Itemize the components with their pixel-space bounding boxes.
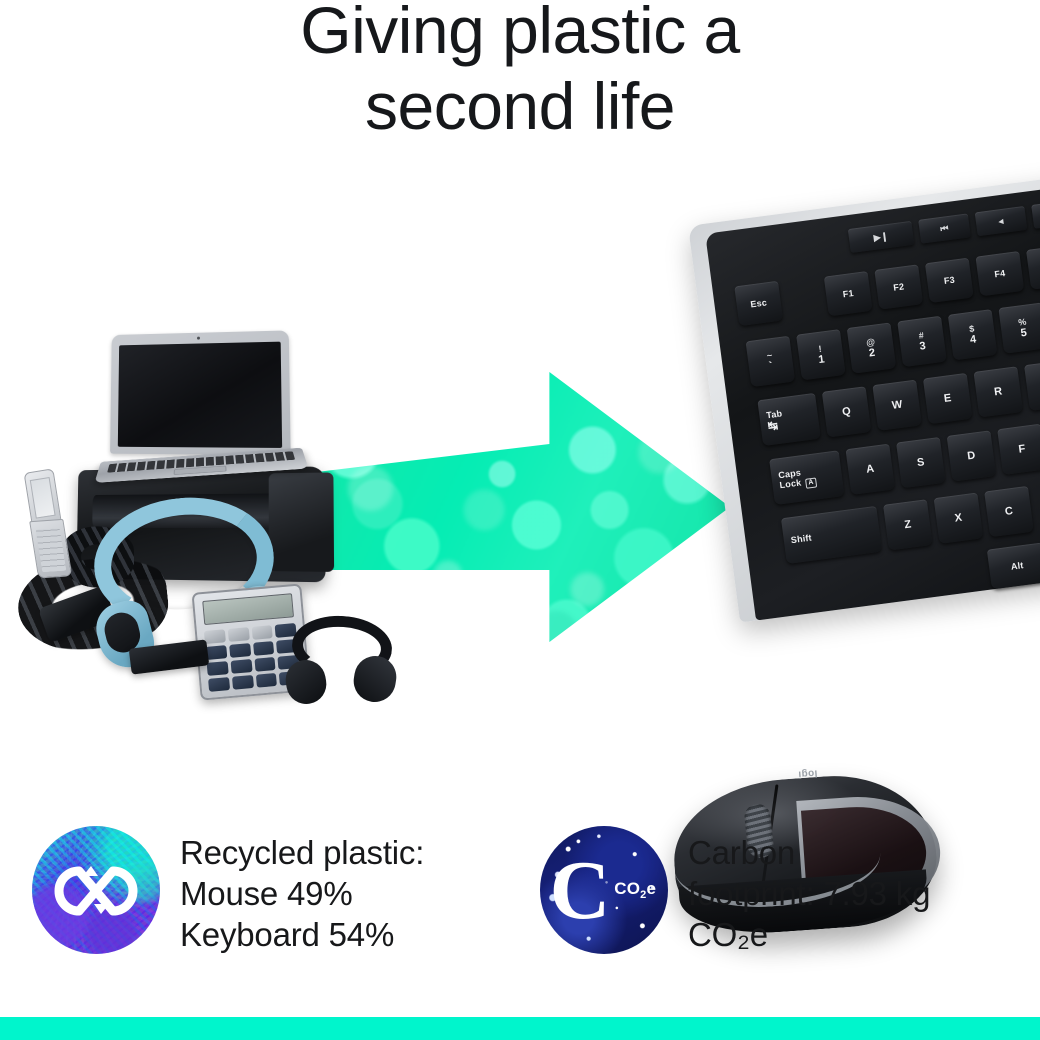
printer-side-block [269,472,334,572]
key-a[interactable]: A [846,444,896,495]
key-f1[interactable]: F1 [824,271,873,316]
flip-phone-screen [24,468,62,526]
carbon-line-2: footprint: 7.93 kg [688,873,930,914]
mouse-brand-logo: logi [798,767,818,779]
carbon-footprint-badge: C CO2e [540,826,668,954]
media-key-play[interactable]: ▶❙ [848,221,915,253]
key-2[interactable]: @ 2 [847,322,897,373]
hero-illustration: ▶❙ ⏮ ◂ ◂) Esc F1 F2 F3 F4 ~ [0,180,1040,820]
key-1[interactable]: ! 1 [796,329,846,380]
key-alt[interactable]: Alt [987,542,1040,589]
recycled-plastic-line-1: Recycled plastic: [180,832,424,873]
flip-phone-keys [36,528,67,572]
laptop-screen [110,330,291,455]
black-headphones [286,616,398,704]
key-q[interactable]: Q [822,386,872,437]
key-tilde[interactable]: ~ ` [746,336,796,387]
recycled-plastic-text: Recycled plastic: Mouse 49% Keyboard 54% [180,826,424,955]
key-s[interactable]: S [896,437,946,488]
recycled-plastic-line-3: Keyboard 54% [180,914,424,955]
key-t[interactable]: T [1024,360,1040,411]
key-esc[interactable]: Esc [734,281,783,326]
carbon-footprint-text: Carbon footprint: 7.93 kg CO₂e [688,826,930,955]
key-4[interactable]: $ 4 [948,309,998,360]
carbon-line-3: CO₂e [688,914,930,955]
key-f4[interactable]: F4 [975,251,1024,296]
key-5[interactable]: % 5 [998,302,1040,353]
keyboard-esc-row: Esc [734,281,783,326]
flip-phone-keypad [29,519,72,579]
key-f5[interactable] [1026,244,1040,289]
title-line-2: second life [0,68,1040,144]
key-x[interactable]: X [934,493,984,544]
media-key-voldown[interactable]: ◂ [975,206,1028,236]
keyboard-function-row: F1 F2 F3 F4 [824,244,1040,316]
key-caps-lock[interactable]: Caps LockA [769,450,844,505]
key-3[interactable]: # 3 [897,316,947,367]
keyboard: ▶❙ ⏮ ◂ ◂) Esc F1 F2 F3 F4 ~ [688,171,1040,642]
key-shift[interactable]: Shift [781,506,882,564]
badge-co2e-label: CO2e [614,879,656,901]
key-f[interactable]: F [997,424,1040,475]
keyboard-deck: ▶❙ ⏮ ◂ ◂) Esc F1 F2 F3 F4 ~ [705,181,1040,620]
recycle-loop-icon [32,826,160,954]
flip-phone [22,468,73,582]
infographic-canvas: Giving plastic a second life [0,0,1040,1040]
media-key-volup[interactable]: ◂) [1031,198,1040,228]
bottom-accent-bar [0,1017,1040,1040]
svg-text:C: C [550,844,611,937]
key-r[interactable]: R [973,366,1023,417]
caps-lock-indicator-icon: A [805,477,818,489]
key-z[interactable]: Z [883,499,933,550]
key-w[interactable]: W [872,380,922,431]
carbon-line-1: Carbon [688,832,930,873]
stat-carbon-footprint: C CO2e Carbon footprint: 7.93 kg CO₂e [540,826,1040,955]
key-tab[interactable]: Tab ↹ [757,393,821,446]
recycled-plastic-badge [32,826,160,954]
stats-row: Recycled plastic: Mouse 49% Keyboard 54%… [0,826,1040,976]
key-d[interactable]: D [947,430,997,481]
stat-recycled-plastic: Recycled plastic: Mouse 49% Keyboard 54% [32,826,512,955]
title-line-1: Giving plastic a [0,0,1040,68]
media-key-prev[interactable]: ⏮ [918,213,971,243]
key-e[interactable]: E [923,373,973,424]
e-waste-pile [0,320,400,700]
key-f3[interactable]: F3 [925,258,974,303]
page-title: Giving plastic a second life [0,0,1040,144]
key-f2[interactable]: F2 [874,264,923,309]
laptop-webcam-icon [197,337,200,340]
recycled-plastic-line-2: Mouse 49% [180,873,424,914]
calculator-display [202,593,294,625]
key-c[interactable]: C [984,486,1034,537]
keyboard-modifier-row: Alt [987,542,1040,589]
